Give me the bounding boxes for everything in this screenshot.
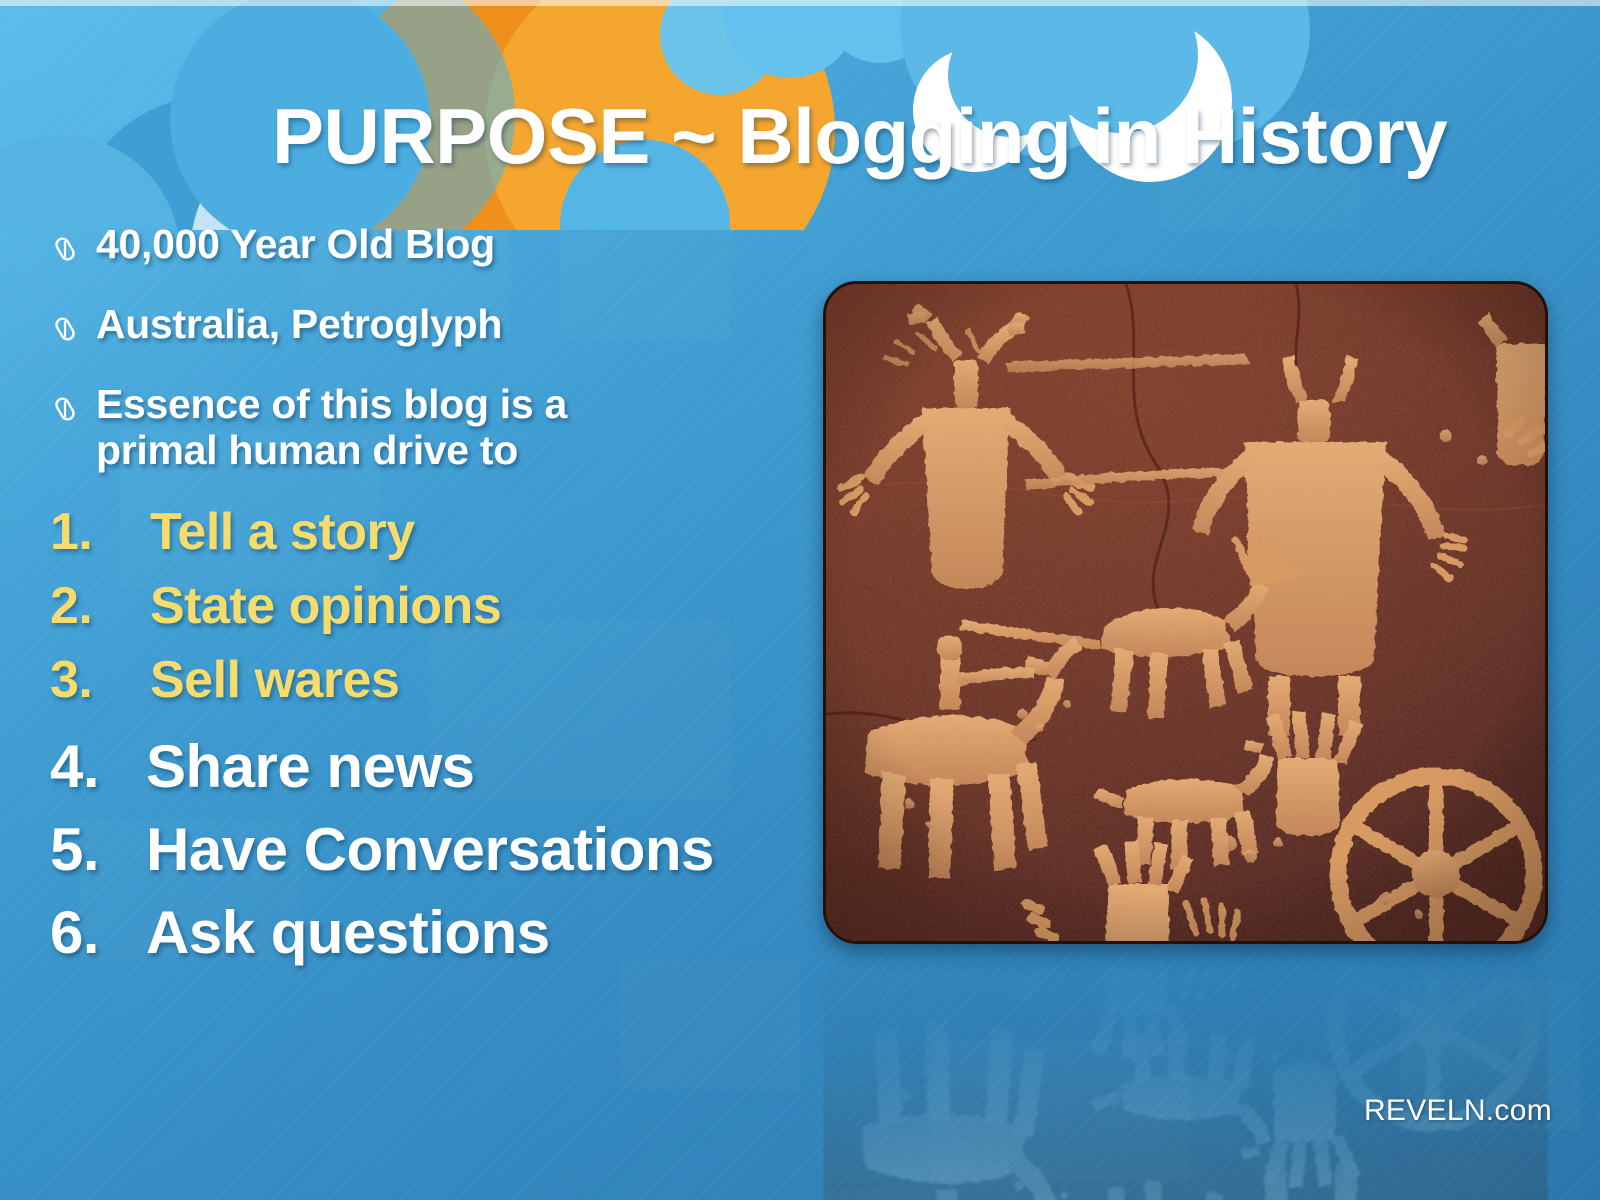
presentation-slide: PURPOSE ~ Blogging in History 40,000 Yea…: [0, 0, 1600, 1200]
numbered-item-label: Share news: [146, 732, 475, 801]
bullet-label: 40,000 Year Old Blog: [96, 222, 495, 268]
numbered-item-index: 1.: [50, 502, 150, 562]
numbered-item: 1. Tell a story: [50, 502, 840, 562]
slashed-oval-bullet-icon: [50, 222, 96, 264]
bullet-label: Australia, Petroglyph: [96, 302, 502, 348]
numbered-item: 6. Ask questions: [50, 898, 840, 967]
numbered-item-index: 3.: [50, 650, 150, 710]
numbered-item-index: 6.: [50, 898, 146, 967]
numbered-item: 2. State opinions: [50, 576, 840, 636]
numbered-item-label: Sell wares: [150, 650, 399, 710]
slashed-oval-bullet-icon: [50, 302, 96, 344]
numbered-item: 5. Have Conversations: [50, 815, 840, 884]
numbered-item-index: 2.: [50, 576, 150, 636]
numbered-item-index: 5.: [50, 815, 146, 884]
numbered-item-label: Have Conversations: [146, 815, 714, 884]
brand-watermark: REVELN.com: [1364, 1094, 1552, 1128]
petroglyph-photo: [823, 281, 1548, 944]
slashed-oval-bullet-icon: [50, 382, 96, 424]
numbered-item-index: 4.: [50, 732, 146, 801]
numbered-item-label: Tell a story: [150, 502, 415, 562]
bullet-label: Essence of this blog is a primal human d…: [96, 382, 696, 474]
numbered-item: 3. Sell wares: [50, 650, 840, 710]
numbered-item-label: Ask questions: [146, 898, 550, 967]
bullet-item: Essence of this blog is a primal human d…: [50, 382, 840, 474]
bullet-item: Australia, Petroglyph: [50, 302, 840, 348]
page-title: PURPOSE ~ Blogging in History: [272, 96, 1562, 178]
numbered-item: 4. Share news: [50, 732, 840, 801]
numbered-item-label: State opinions: [150, 576, 501, 636]
slide-content: 40,000 Year Old Blog Australia, Petrogly…: [50, 222, 840, 981]
bullet-item: 40,000 Year Old Blog: [50, 222, 840, 268]
petroglyph-photo-reflection: [823, 952, 1548, 1200]
